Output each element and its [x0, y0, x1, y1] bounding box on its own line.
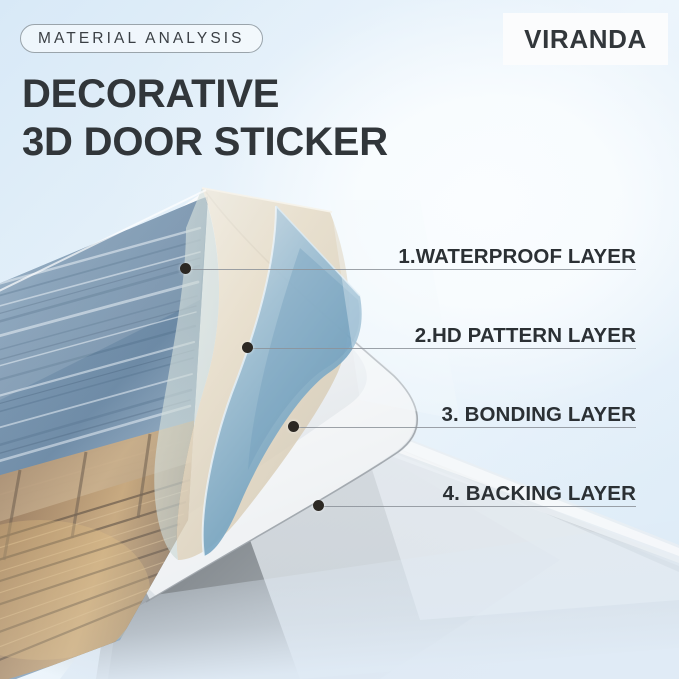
callout-dot-1 — [180, 263, 191, 274]
callout-leader-line-2 — [252, 348, 636, 349]
eyebrow-label: MATERIAL ANALYSIS — [38, 30, 245, 48]
brand-name: VIRANDA — [524, 24, 647, 55]
callout-leader-line-1 — [190, 269, 636, 270]
callout-label-2: 2.HD PATTERN LAYER — [415, 324, 636, 348]
callout-dot-3 — [288, 421, 299, 432]
callout-dot-2 — [242, 342, 253, 353]
page-title-line-2: 3D DOOR STICKER — [22, 122, 388, 162]
callout-label-1: 1.WATERPROOF LAYER — [398, 245, 636, 269]
product-infographic: MATERIAL ANALYSIS DECORATIVE 3D DOOR STI… — [0, 0, 679, 679]
callout-dot-4 — [313, 500, 324, 511]
callout-label-3: 3. BONDING LAYER — [442, 403, 637, 427]
eyebrow-badge: MATERIAL ANALYSIS — [20, 24, 263, 53]
callout-leader-line-4 — [323, 506, 636, 507]
callout-leader-line-3 — [298, 427, 636, 428]
page-title-line-1: DECORATIVE — [22, 74, 279, 114]
callout-label-4: 4. BACKING LAYER — [443, 482, 636, 506]
brand-logo-box: VIRANDA — [503, 13, 668, 65]
